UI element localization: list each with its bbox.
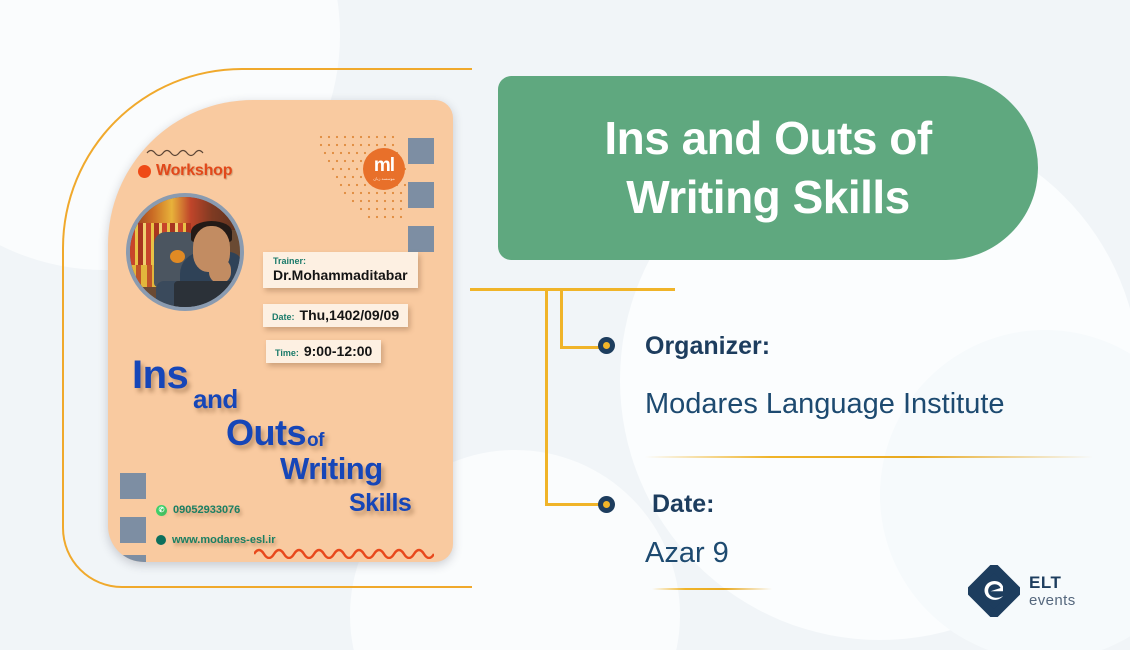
organizer-label: Organizer:: [645, 332, 770, 361]
poster-time-label: Time:: [275, 348, 299, 358]
elt-wordmark: ELT events: [1029, 574, 1076, 608]
workshop-label: Workshop: [156, 162, 232, 180]
date-underline-divider: [652, 588, 772, 590]
elt-name-bottom: events: [1029, 593, 1076, 608]
poster-phone-row: ✆ 09052933076: [156, 504, 240, 516]
elt-name-top: ELT: [1029, 574, 1076, 591]
square-decoration: [408, 138, 434, 164]
wave-decoration: [254, 545, 434, 559]
institute-badge-icon: ml موسسه زبان: [363, 148, 405, 190]
bullet-marker-date: [598, 496, 615, 513]
poster-date-plate: Date: Thu,1402/09/09: [263, 304, 408, 327]
connector-line-date: [545, 503, 605, 506]
poster-time-value: 9:00-12:00: [304, 343, 373, 359]
bullet-dot-icon: [138, 165, 151, 178]
date-label: Date:: [652, 490, 715, 519]
event-title-line-2: Writing Skills: [626, 169, 910, 227]
elt-events-logo: ELT events: [968, 565, 1076, 617]
square-decoration: [120, 517, 146, 543]
square-decoration: [120, 473, 146, 499]
poster-date-label: Date:: [272, 312, 295, 322]
poster-trainer-value: Dr.Mohammaditabar: [273, 267, 408, 283]
poster-phone-value: 09052933076: [173, 504, 240, 516]
workshop-kicker: Workshop: [138, 162, 232, 180]
event-poster-card: Workshop: [108, 100, 453, 562]
poster-trainer-label: Trainer:: [273, 256, 306, 266]
connector-line-vertical-main: [545, 290, 548, 506]
event-title-line-1: Ins and Outs of: [604, 110, 931, 168]
connector-line-top: [545, 288, 675, 291]
event-title-banner: Ins and Outs of Writing Skills: [498, 76, 1038, 260]
whatsapp-icon: ✆: [156, 505, 167, 516]
square-decoration: [408, 226, 434, 252]
poster-title-word-outs: Outs: [226, 412, 306, 454]
section-divider: [645, 456, 1093, 458]
squiggle-decoration: [146, 148, 204, 158]
badge-subtext-label: موسسه زبان: [373, 176, 395, 181]
badge-mark-label: ml: [374, 157, 394, 174]
poster-trainer-plate: Trainer: Dr.Mohammaditabar: [263, 252, 418, 288]
connector-line-poster: [470, 288, 548, 291]
square-decoration: [120, 555, 146, 562]
poster-title-word-skills: Skills: [349, 489, 411, 518]
bullet-marker-organizer: [598, 337, 615, 354]
poster-title-word-and: and: [193, 384, 238, 415]
date-value: Azar 9: [645, 537, 729, 570]
connector-line-vertical-organizer: [560, 290, 563, 348]
globe-icon: [156, 535, 166, 545]
poster-date-value: Thu,1402/09/09: [300, 307, 400, 323]
poster-title-word-of: of: [307, 430, 324, 452]
poster-canvas: Workshop: [0, 0, 1130, 650]
poster-title-word-writing: Writing: [280, 451, 383, 487]
trainer-portrait-avatar: [126, 193, 244, 311]
poster-title-word-ins: Ins: [132, 353, 188, 398]
poster-time-plate: Time: 9:00-12:00: [266, 340, 381, 363]
organizer-value: Modares Language Institute: [645, 388, 1005, 421]
square-decoration: [408, 182, 434, 208]
elt-diamond-icon: [968, 565, 1020, 617]
